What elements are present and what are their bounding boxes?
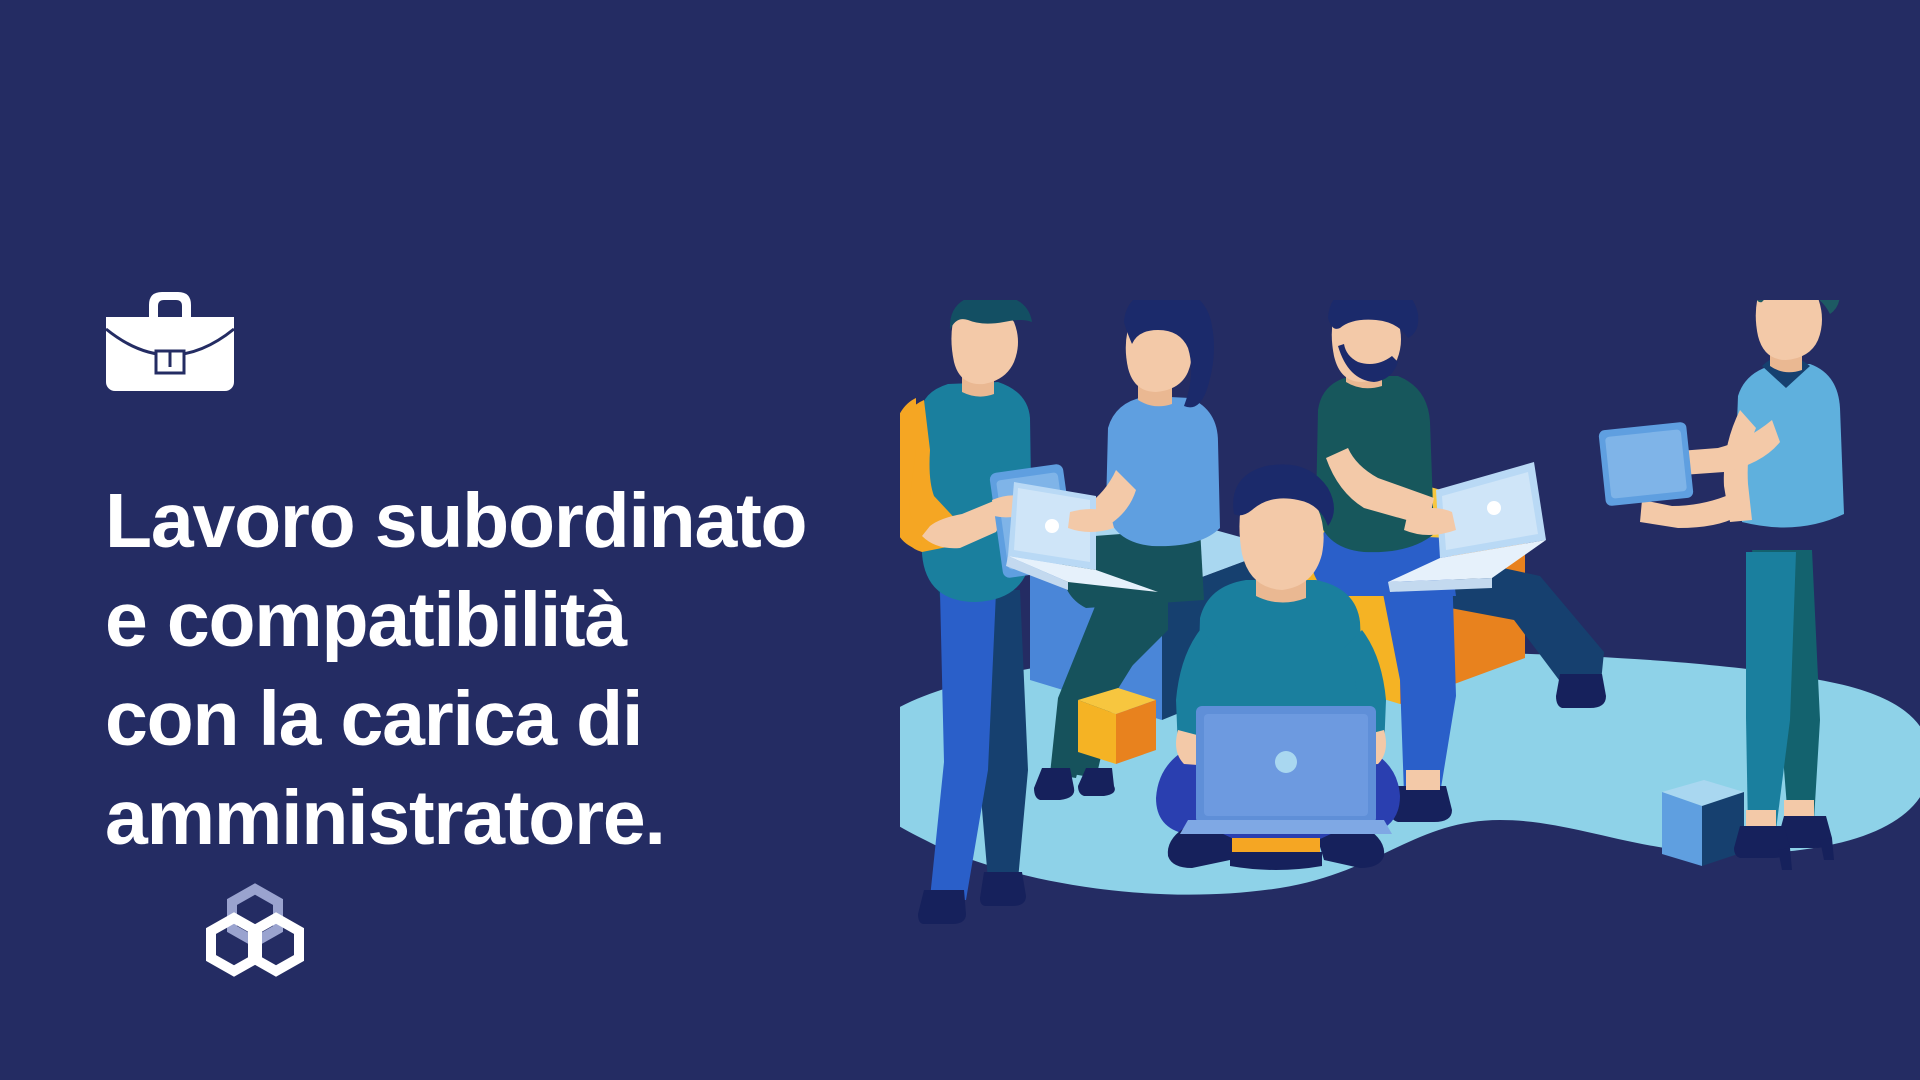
headline-line-2: e compatibilità: [105, 571, 985, 670]
tablet-device: [1598, 422, 1693, 507]
briefcase-icon: [104, 283, 236, 393]
headline-line-1: Lavoro subordinato: [105, 472, 985, 571]
content-column: Lavoro subordinato e compatibilità con l…: [104, 0, 984, 1080]
yellow-cube-small: [1078, 688, 1156, 764]
page-title: Lavoro subordinato e compatibilità con l…: [105, 472, 985, 868]
team-working-illustration: [900, 300, 1920, 1000]
banner-root: Lavoro subordinato e compatibilità con l…: [0, 0, 1920, 1080]
interlocking-hexagons-logo: [200, 878, 310, 988]
blue-cube-small: [1662, 780, 1744, 866]
headline-line-4: amministratore.: [105, 769, 985, 868]
headline-line-3: con la carica di: [105, 670, 985, 769]
laptop-device: [1180, 706, 1392, 834]
